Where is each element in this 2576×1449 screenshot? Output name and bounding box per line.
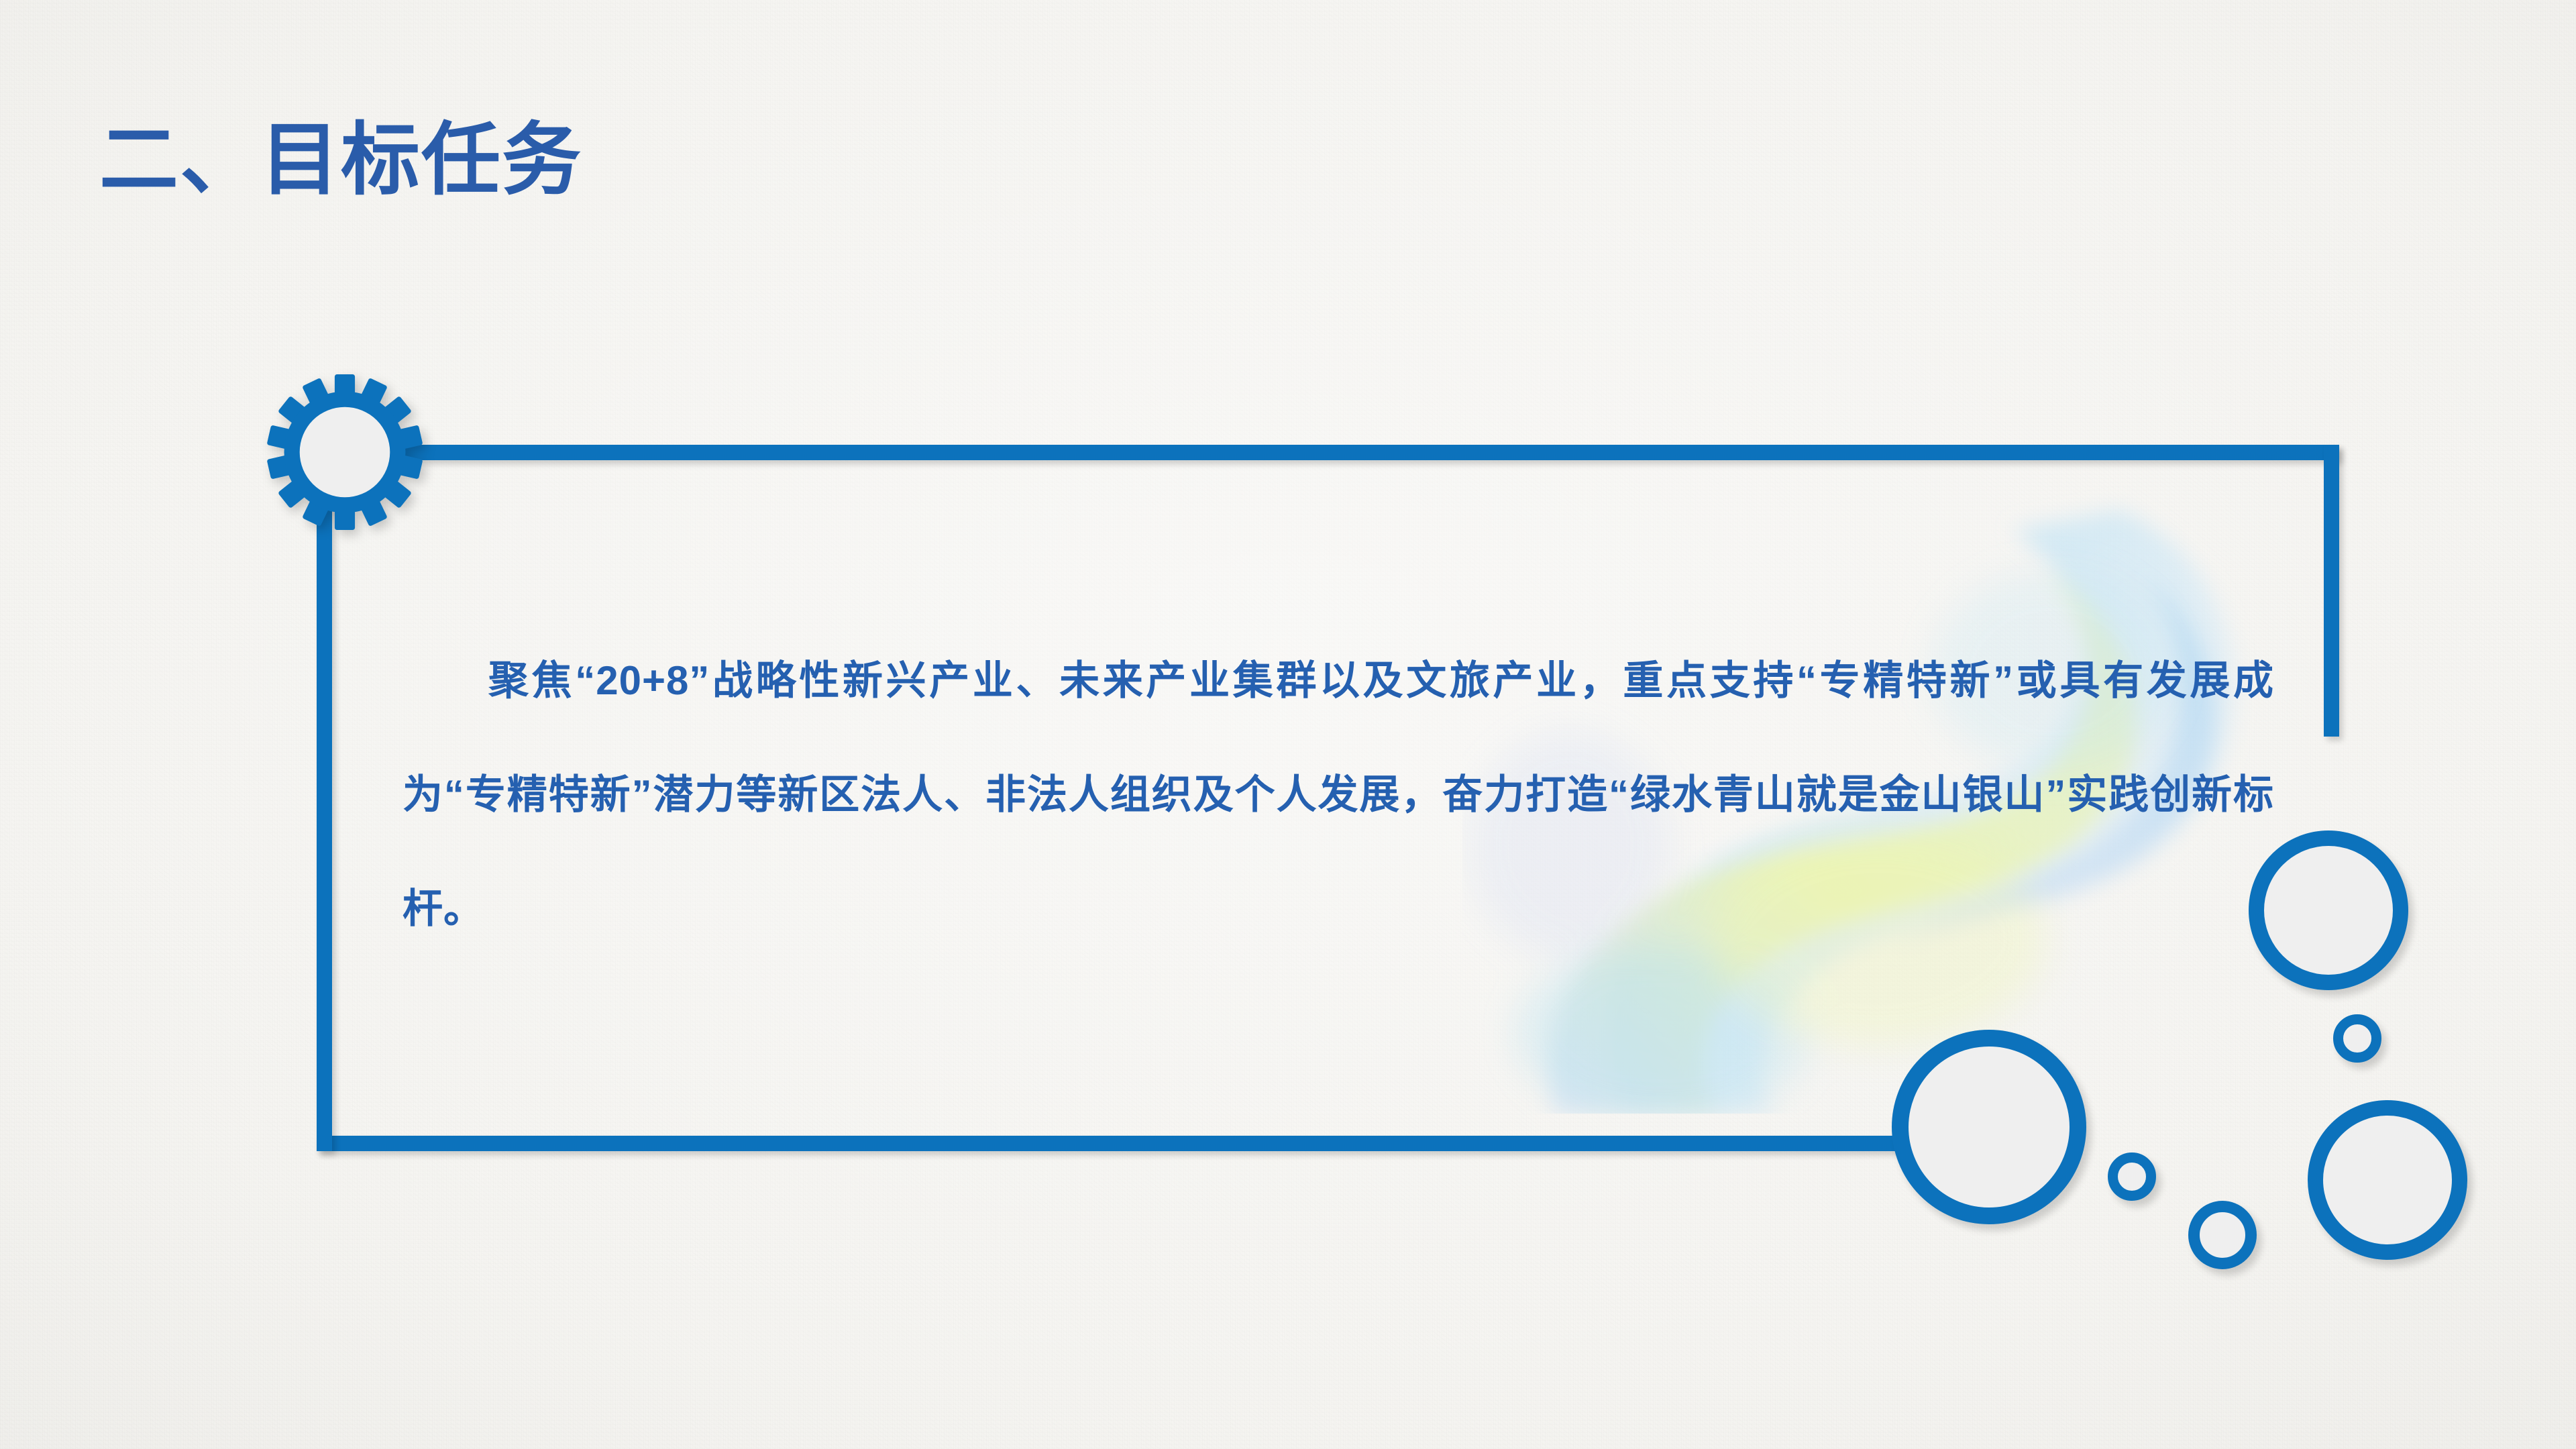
frame-border-bottom [317,1136,1980,1151]
gear-icon [267,374,423,530]
decorative-circle-mid-right [2308,1100,2467,1260]
decorative-dot-bottom [2188,1201,2257,1269]
body-paragraph: 聚焦“20+8”战略性新兴产业、未来产业集群以及文旅产业，重点支持“专精特新”或… [402,624,2274,966]
decorative-dot-center [2108,1152,2156,1201]
page-title: 二、目标任务 [99,119,582,203]
decorative-dot-right [2333,1014,2381,1063]
body-text-block: 聚焦“20+8”战略性新兴产业、未来产业集群以及文旅产业，重点支持“专精特新”或… [402,624,2274,966]
frame-border-left [317,445,332,1151]
slide-canvas: 二、目标任务 [0,0,2576,1449]
frame-border-right [2324,445,2339,737]
decorative-circle-large-left [1892,1030,2086,1224]
frame-border-top [317,445,2339,460]
